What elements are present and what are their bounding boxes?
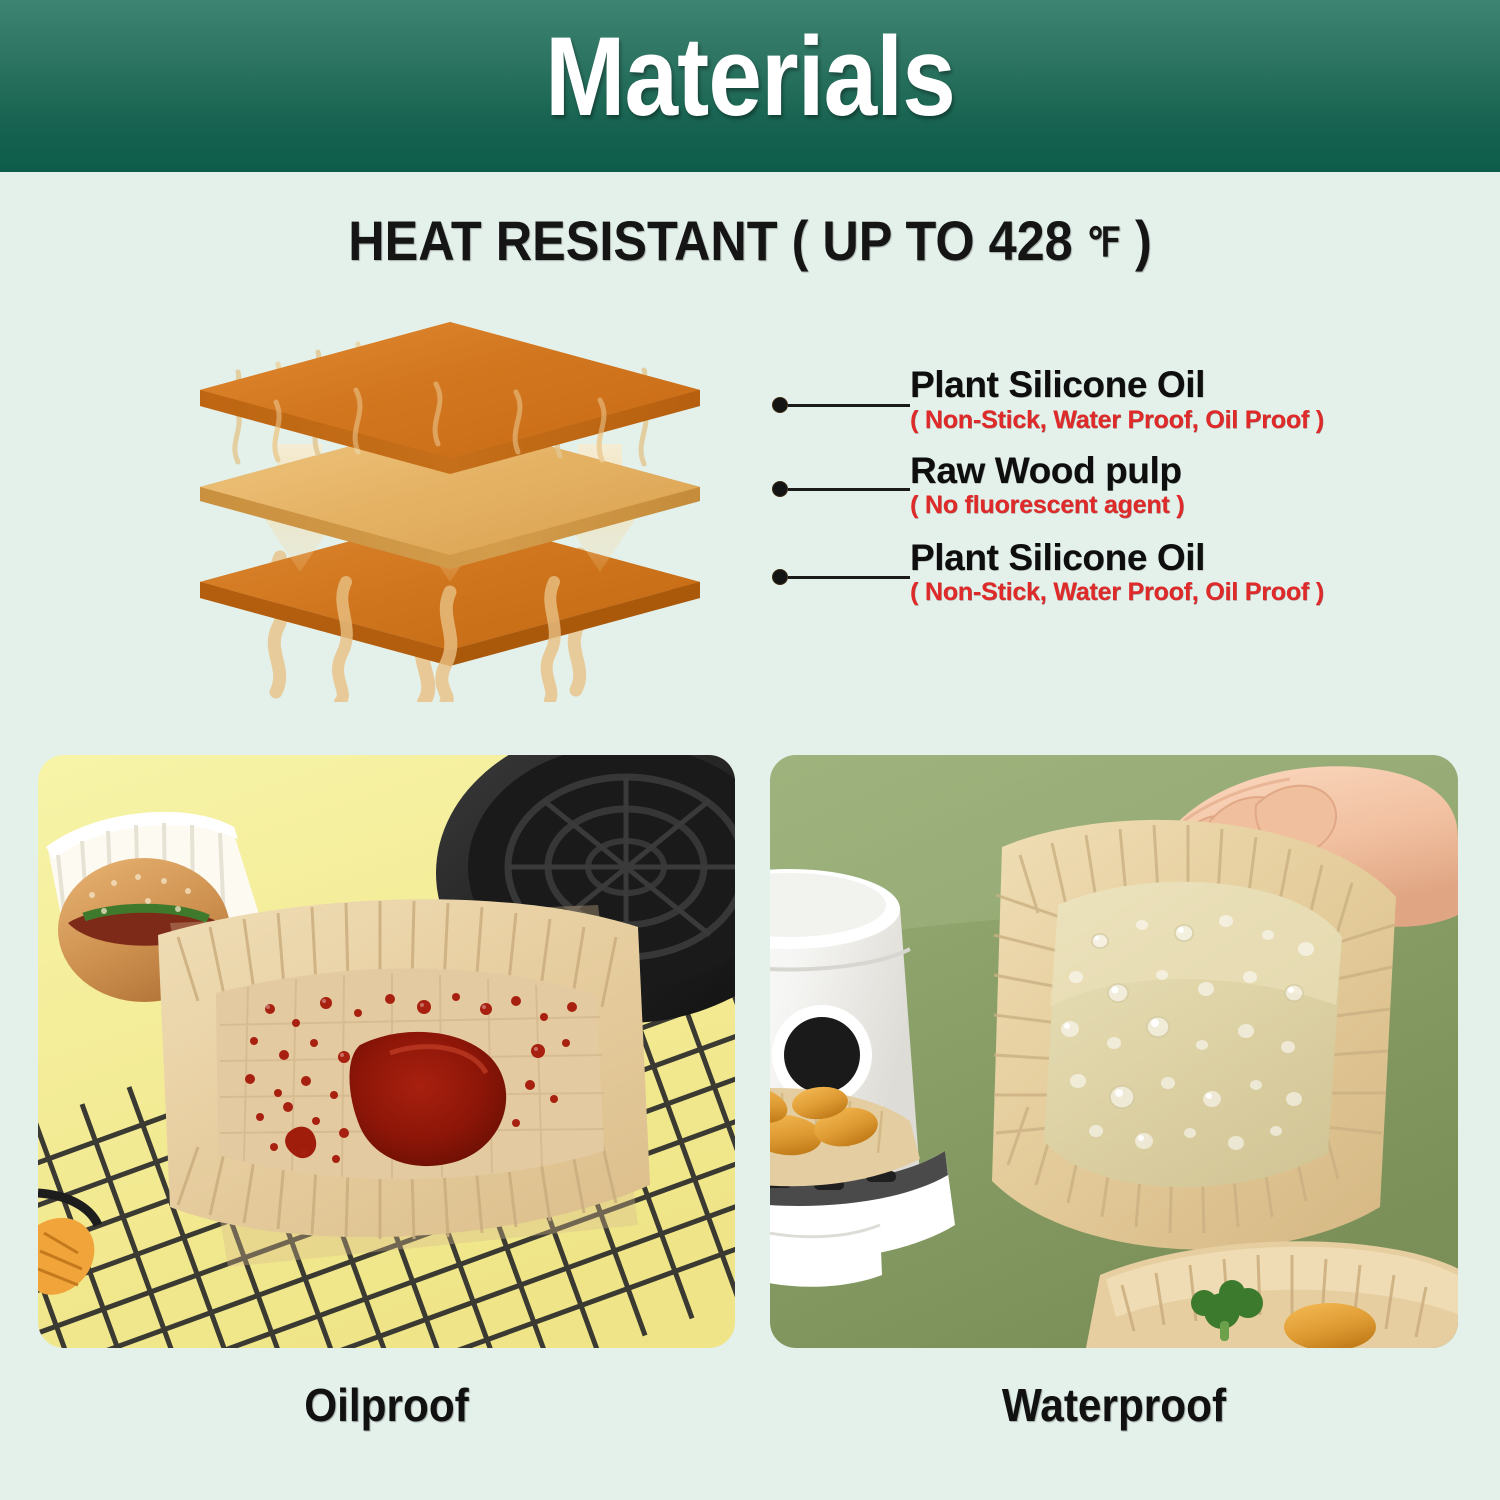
callout-label-bottom-coating: Plant Silicone Oil <box>910 537 1205 579</box>
callout-label-core: Raw Wood pulp <box>910 450 1182 492</box>
photo-oilproof-illustration <box>38 755 735 1348</box>
callout-dot-top <box>772 397 788 413</box>
callout-dot-bottom <box>772 569 788 585</box>
parchment-liner-water <box>992 820 1396 1250</box>
callout-line-bottom <box>788 576 910 579</box>
callout-line-top <box>788 404 910 407</box>
callout-detail-core: ( No fluorescent agent ) <box>910 491 1184 520</box>
callout-label-top-coating: Plant Silicone Oil <box>910 364 1205 406</box>
fryer-knob <box>784 1017 860 1093</box>
heat-resistance-heading: HEAT RESISTANT ( UP TO 428 ℉ ) <box>75 208 1425 273</box>
photo-oilproof <box>38 755 735 1348</box>
caption-oilproof: Oilproof <box>66 1378 707 1432</box>
page-header: Materials <box>0 0 1500 172</box>
heading-text-before: HEAT RESISTANT ( UP TO 428 <box>348 209 1086 272</box>
caption-waterproof: Waterproof <box>798 1378 1431 1432</box>
photo-waterproof <box>770 755 1458 1348</box>
callout-dot-core <box>772 481 788 497</box>
degree-fahrenheit-symbol: ℉ <box>1087 220 1121 265</box>
heading-text-after: ) <box>1121 209 1152 272</box>
callout-detail-top-coating: ( Non-Stick, Water Proof, Oil Proof ) <box>910 406 1324 435</box>
layer-diagram-svg <box>150 282 850 702</box>
callout-line-core <box>788 488 910 491</box>
page-title: Materials <box>105 14 1395 139</box>
callout-detail-bottom-coating: ( Non-Stick, Water Proof, Oil Proof ) <box>910 578 1324 607</box>
layer-structure-diagram <box>150 282 850 702</box>
parchment-liner-oil <box>158 899 650 1267</box>
photo-waterproof-illustration <box>770 755 1458 1348</box>
